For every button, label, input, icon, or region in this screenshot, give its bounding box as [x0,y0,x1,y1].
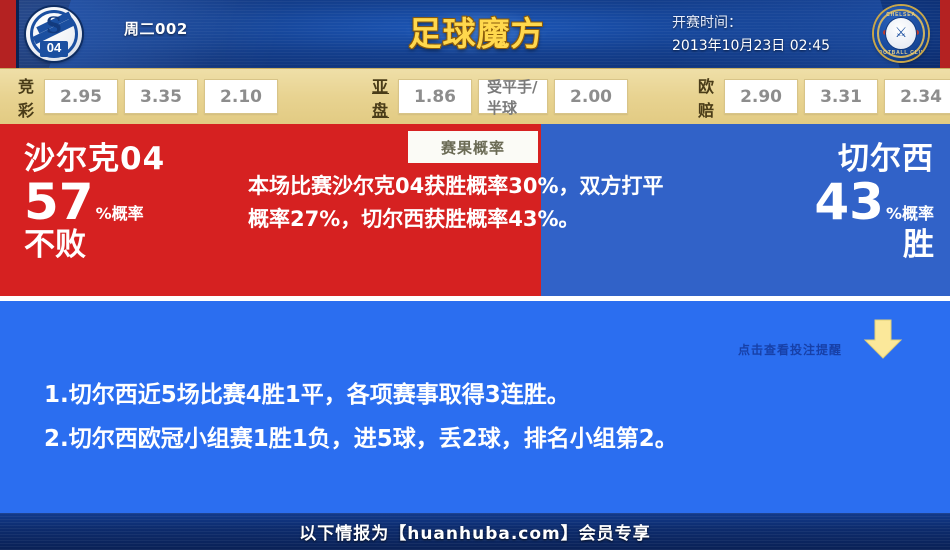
header-accent-stripe-left-inner [16,0,19,68]
odds-label-2[interactable]: 亚盘 [372,73,389,121]
home-percent-row: 57%概率 [24,176,165,228]
home-probability-block: 沙尔克04 57%概率 不败 [24,142,165,262]
page-footer: 以下情报为【huanhuba.com】会员专享 [0,513,950,550]
away-result-label: 胜 [814,228,934,262]
away-percent-unit: %概率 [886,200,934,224]
odds-bar: 竞彩2.953.352.10亚盘1.86受平手/半球2.00欧赔2.903.31… [0,68,950,125]
odds-value-2-1[interactable]: 1.86 [398,79,472,114]
header-accent-stripe-right [940,0,950,68]
odds-value-2-3[interactable]: 2.00 [554,79,628,114]
kickoff-label: 开赛时间： [672,12,830,32]
home-team-crest-icon[interactable]: S 04 [26,7,82,61]
tab-result-probability[interactable]: 赛果概率 [408,131,538,163]
crest-letter: S [26,13,82,39]
home-percent-unit: %概率 [96,200,144,224]
probability-panel: 赛果概率 沙尔克04 57%概率 不败 本场比赛沙尔克04获胜概率30%，双方打… [0,124,950,296]
arrow-down-icon[interactable] [861,318,905,360]
header-accent-stripe-left [0,0,16,68]
odds-group-1: 竞彩2.953.352.10 [18,73,284,121]
home-team-name: 沙尔克04 [24,142,165,176]
odds-group-2: 亚盘1.86受平手/半球2.00 [372,73,634,121]
away-probability-block: 切尔西 43%概率 胜 [814,142,934,262]
odds-value-3-2[interactable]: 3.31 [804,79,878,114]
kickoff-time: 2013年10月23日 02:45 [672,35,830,55]
view-betting-reminder-link[interactable]: 点击查看投注提醒 [738,341,842,358]
away-percent-row: 43%概率 [814,176,934,228]
odds-label-3: 欧赔 [698,73,715,121]
footer-notice: 以下情报为【huanhuba.com】会员专享 [299,519,651,544]
odds-value-1-1[interactable]: 2.95 [44,79,118,114]
away-percent-value: 43 [814,176,884,228]
kickoff-block: 开赛时间： 2013年10月23日 02:45 [672,12,830,55]
match-number-label: 周二002 [124,18,188,39]
odds-value-2-2[interactable]: 受平手/半球 [478,79,548,114]
page-header: S 04 周二002 足球魔方 开赛时间： 2013年10月23日 02:45 … [0,0,950,68]
match-preview-page: S 04 周二002 足球魔方 开赛时间： 2013年10月23日 02:45 … [0,0,950,550]
home-result-label: 不败 [24,228,165,262]
odds-value-1-3[interactable]: 2.10 [204,79,278,114]
crest-number: 04 [26,40,82,55]
odds-value-3-1[interactable]: 2.90 [724,79,798,114]
odds-value-1-2[interactable]: 3.35 [124,79,198,114]
away-team-crest-icon[interactable]: CHELSEA ⚔ FOOTBALL CLUB [874,6,928,61]
betting-tips-panel: 点击查看投注提醒 1.切尔西近5场比赛4胜1平，各项赛事取得3连胜。2.切尔西欧… [0,301,950,513]
odds-group-3: 欧赔2.903.312.34 [698,73,950,121]
crest-lion-icon: ⚔ [874,18,928,48]
site-brand-logo[interactable]: 足球魔方 [404,12,549,56]
odds-value-3-3[interactable]: 2.34 [884,79,950,114]
home-percent-value: 57 [24,176,94,228]
away-team-name: 切尔西 [814,142,934,176]
probability-summary-text: 本场比赛沙尔克04获胜概率30%，双方打平概率27%，切尔西获胜概率43%。 [248,170,678,236]
tips-list: 1.切尔西近5场比赛4胜1平，各项赛事取得3连胜。2.切尔西欧冠小组赛1胜1负，… [44,373,914,461]
crest-bottom-word: FOOTBALL CLUB [874,50,928,56]
tip-item: 2.切尔西欧冠小组赛1胜1负，进5球，丢2球，排名小组第2。 [44,417,914,461]
odds-label-1: 竞彩 [18,73,35,121]
tip-item: 1.切尔西近5场比赛4胜1平，各项赛事取得3连胜。 [44,373,914,417]
